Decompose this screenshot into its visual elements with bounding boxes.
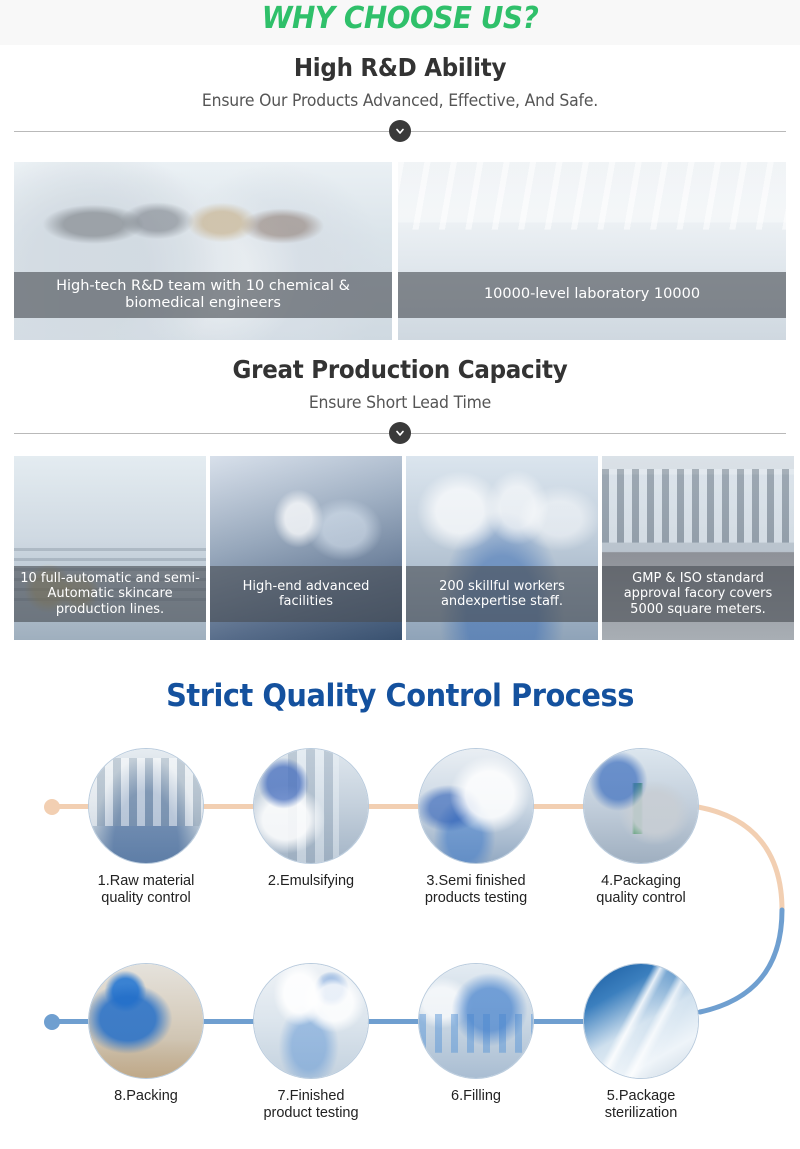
photo-advanced-facilities[interactable]: High-end advanced facilities	[210, 456, 402, 640]
photo-rnd-team[interactable]: High-tech R&D team with 10 chemical & bi…	[14, 162, 392, 340]
step-6[interactable]: 6.Filling	[418, 963, 534, 1105]
quality-control-title: Strict Quality Control Process	[28, 678, 772, 714]
chevron-down-icon	[389, 120, 411, 142]
step-1[interactable]: 1.Raw material quality control	[88, 748, 204, 907]
photo-caption: 200 skillful workers andexpertise staff.	[406, 566, 598, 622]
step-3-image[interactable]	[418, 748, 534, 864]
step-2-image[interactable]	[253, 748, 369, 864]
section-1-subtitle: Ensure Our Products Advanced, Effective,…	[32, 91, 768, 111]
section-2-heading: Great Production Capacity Ensure Short L…	[0, 355, 800, 413]
photo-caption: 10000-level laboratory 10000	[398, 272, 786, 318]
photo-skillful-workers[interactable]: 200 skillful workers andexpertise staff.	[406, 456, 598, 640]
step-1-image[interactable]	[88, 748, 204, 864]
photo-caption: High-end advanced facilities	[210, 566, 402, 622]
step-6-label: 6.Filling	[418, 1088, 534, 1105]
section-1-heading: High R&D Ability Ensure Our Products Adv…	[0, 53, 800, 111]
photo-factory-building[interactable]: GMP & ISO standard approval facory cover…	[602, 456, 794, 640]
step-2[interactable]: 2.Emulsifying	[253, 748, 369, 890]
step-7[interactable]: 7.Finished product testing	[253, 963, 369, 1122]
step-8-image[interactable]	[88, 963, 204, 1079]
step-4-label: 4.Packaging quality control	[583, 873, 699, 907]
section-2-subtitle: Ensure Short Lead Time	[32, 393, 768, 413]
product-detail-page: WHY CHOOSE US? High R&D Ability Ensure O…	[0, 0, 800, 1149]
section-1-title: High R&D Ability	[32, 53, 768, 82]
section-2-image-row: 10 full-automatic and semi-Automatic ski…	[14, 456, 794, 640]
photo-caption: 10 full-automatic and semi-Automatic ski…	[14, 566, 206, 622]
step-5-image[interactable]	[583, 963, 699, 1079]
step-3-label: 3.Semi finished products testing	[418, 873, 534, 907]
step-3[interactable]: 3.Semi finished products testing	[418, 748, 534, 907]
step-8[interactable]: 8.Packing	[88, 963, 204, 1105]
step-6-image[interactable]	[418, 963, 534, 1079]
photo-caption: High-tech R&D team with 10 chemical & bi…	[14, 272, 392, 318]
photo-laboratory[interactable]: 10000-level laboratory 10000	[398, 162, 786, 340]
photo-caption: GMP & ISO standard approval facory cover…	[602, 566, 794, 622]
step-8-label: 8.Packing	[88, 1088, 204, 1105]
step-5[interactable]: 5.Package sterilization	[583, 963, 699, 1122]
chevron-down-icon	[389, 422, 411, 444]
section-1-image-row: High-tech R&D team with 10 chemical & bi…	[14, 162, 786, 340]
step-4-image[interactable]	[583, 748, 699, 864]
step-7-image[interactable]	[253, 963, 369, 1079]
step-4[interactable]: 4.Packaging quality control	[583, 748, 699, 907]
step-7-label: 7.Finished product testing	[253, 1088, 369, 1122]
step-2-label: 2.Emulsifying	[253, 873, 369, 890]
step-1-label: 1.Raw material quality control	[88, 873, 204, 907]
section-2-title: Great Production Capacity	[32, 355, 768, 384]
step-5-label: 5.Package sterilization	[583, 1088, 699, 1122]
why-choose-us-headline: WHY CHOOSE US?	[28, 1, 772, 36]
photo-production-lines[interactable]: 10 full-automatic and semi-Automatic ski…	[14, 456, 206, 640]
